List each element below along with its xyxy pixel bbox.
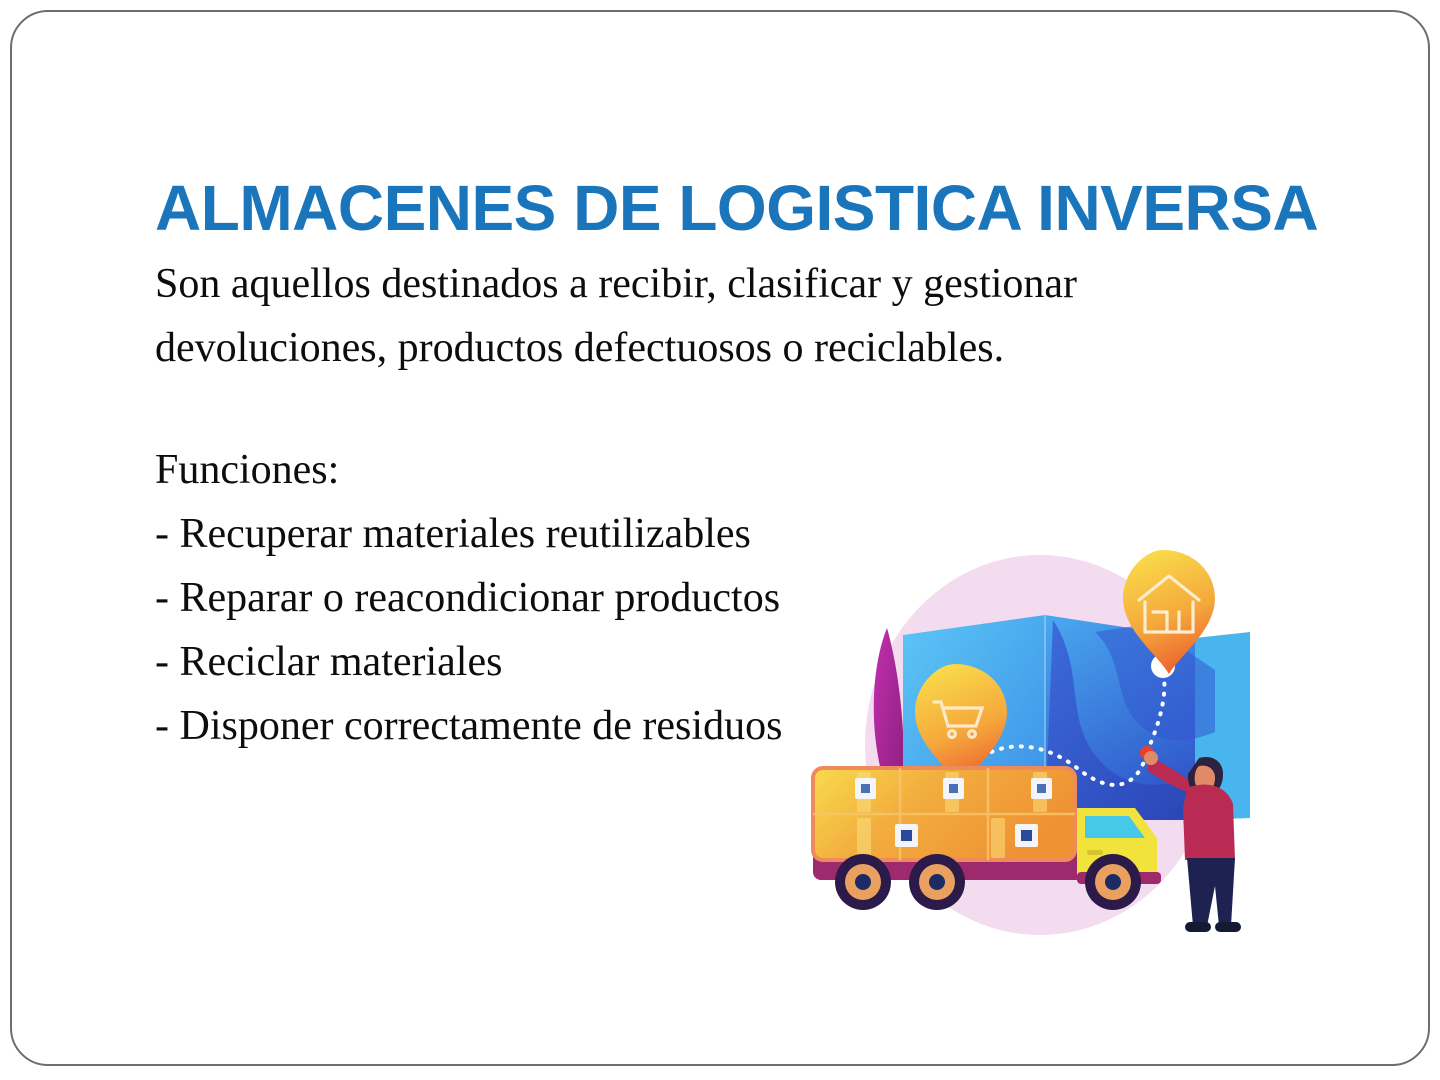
logistics-delivery-map-illustration [795,520,1265,945]
person-shoes [1185,922,1241,932]
page-title: ALMACENES DE LOGISTICA INVERSA [155,174,1318,242]
intro-paragraph: Son aquellos destinados a recibir, clasi… [155,252,1175,380]
cab-door-handle [1087,850,1103,855]
person-shirt [1183,785,1235,860]
functions-heading: Funciones: [155,438,1215,502]
paragraph-spacer [155,380,1215,438]
person-hand [1144,751,1158,765]
slide: ALMACENES DE LOGISTICA INVERSA Son aquel… [0,0,1440,1080]
person-pants [1187,858,1235,926]
